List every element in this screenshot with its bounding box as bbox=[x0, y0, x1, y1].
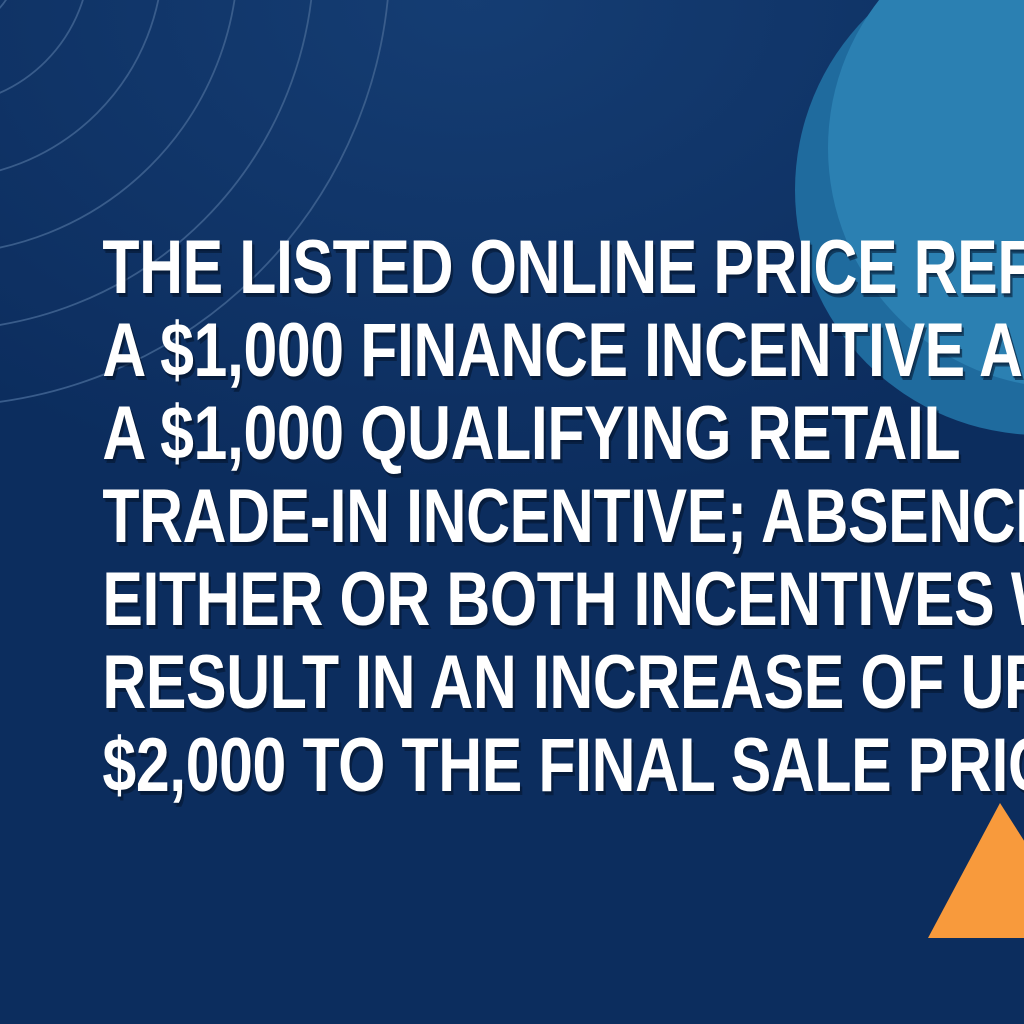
promo-disclaimer-graphic: THE LISTED ONLINE PRICE REFLECTS A $1,00… bbox=[0, 0, 1024, 1024]
headline-line-4: TRADE-IN INCENTIVE; ABSENCE OF bbox=[102, 475, 921, 558]
headline-line-7: $2,000 TO THE FINAL SALE PRICE. bbox=[102, 724, 921, 807]
disclaimer-text-block: THE LISTED ONLINE PRICE REFLECTS A $1,00… bbox=[0, 0, 1024, 1024]
headline-line-6: RESULT IN AN INCREASE OF UP TO bbox=[102, 641, 921, 724]
headline-line-5: EITHER OR BOTH INCENTIVES WILL bbox=[102, 558, 921, 641]
headline-line-1: THE LISTED ONLINE PRICE REFLECTS bbox=[102, 226, 921, 309]
headline-line-3: A $1,000 QUALIFYING RETAIL bbox=[102, 392, 921, 475]
headline-line-2: A $1,000 FINANCE INCENTIVE AND bbox=[102, 309, 921, 392]
